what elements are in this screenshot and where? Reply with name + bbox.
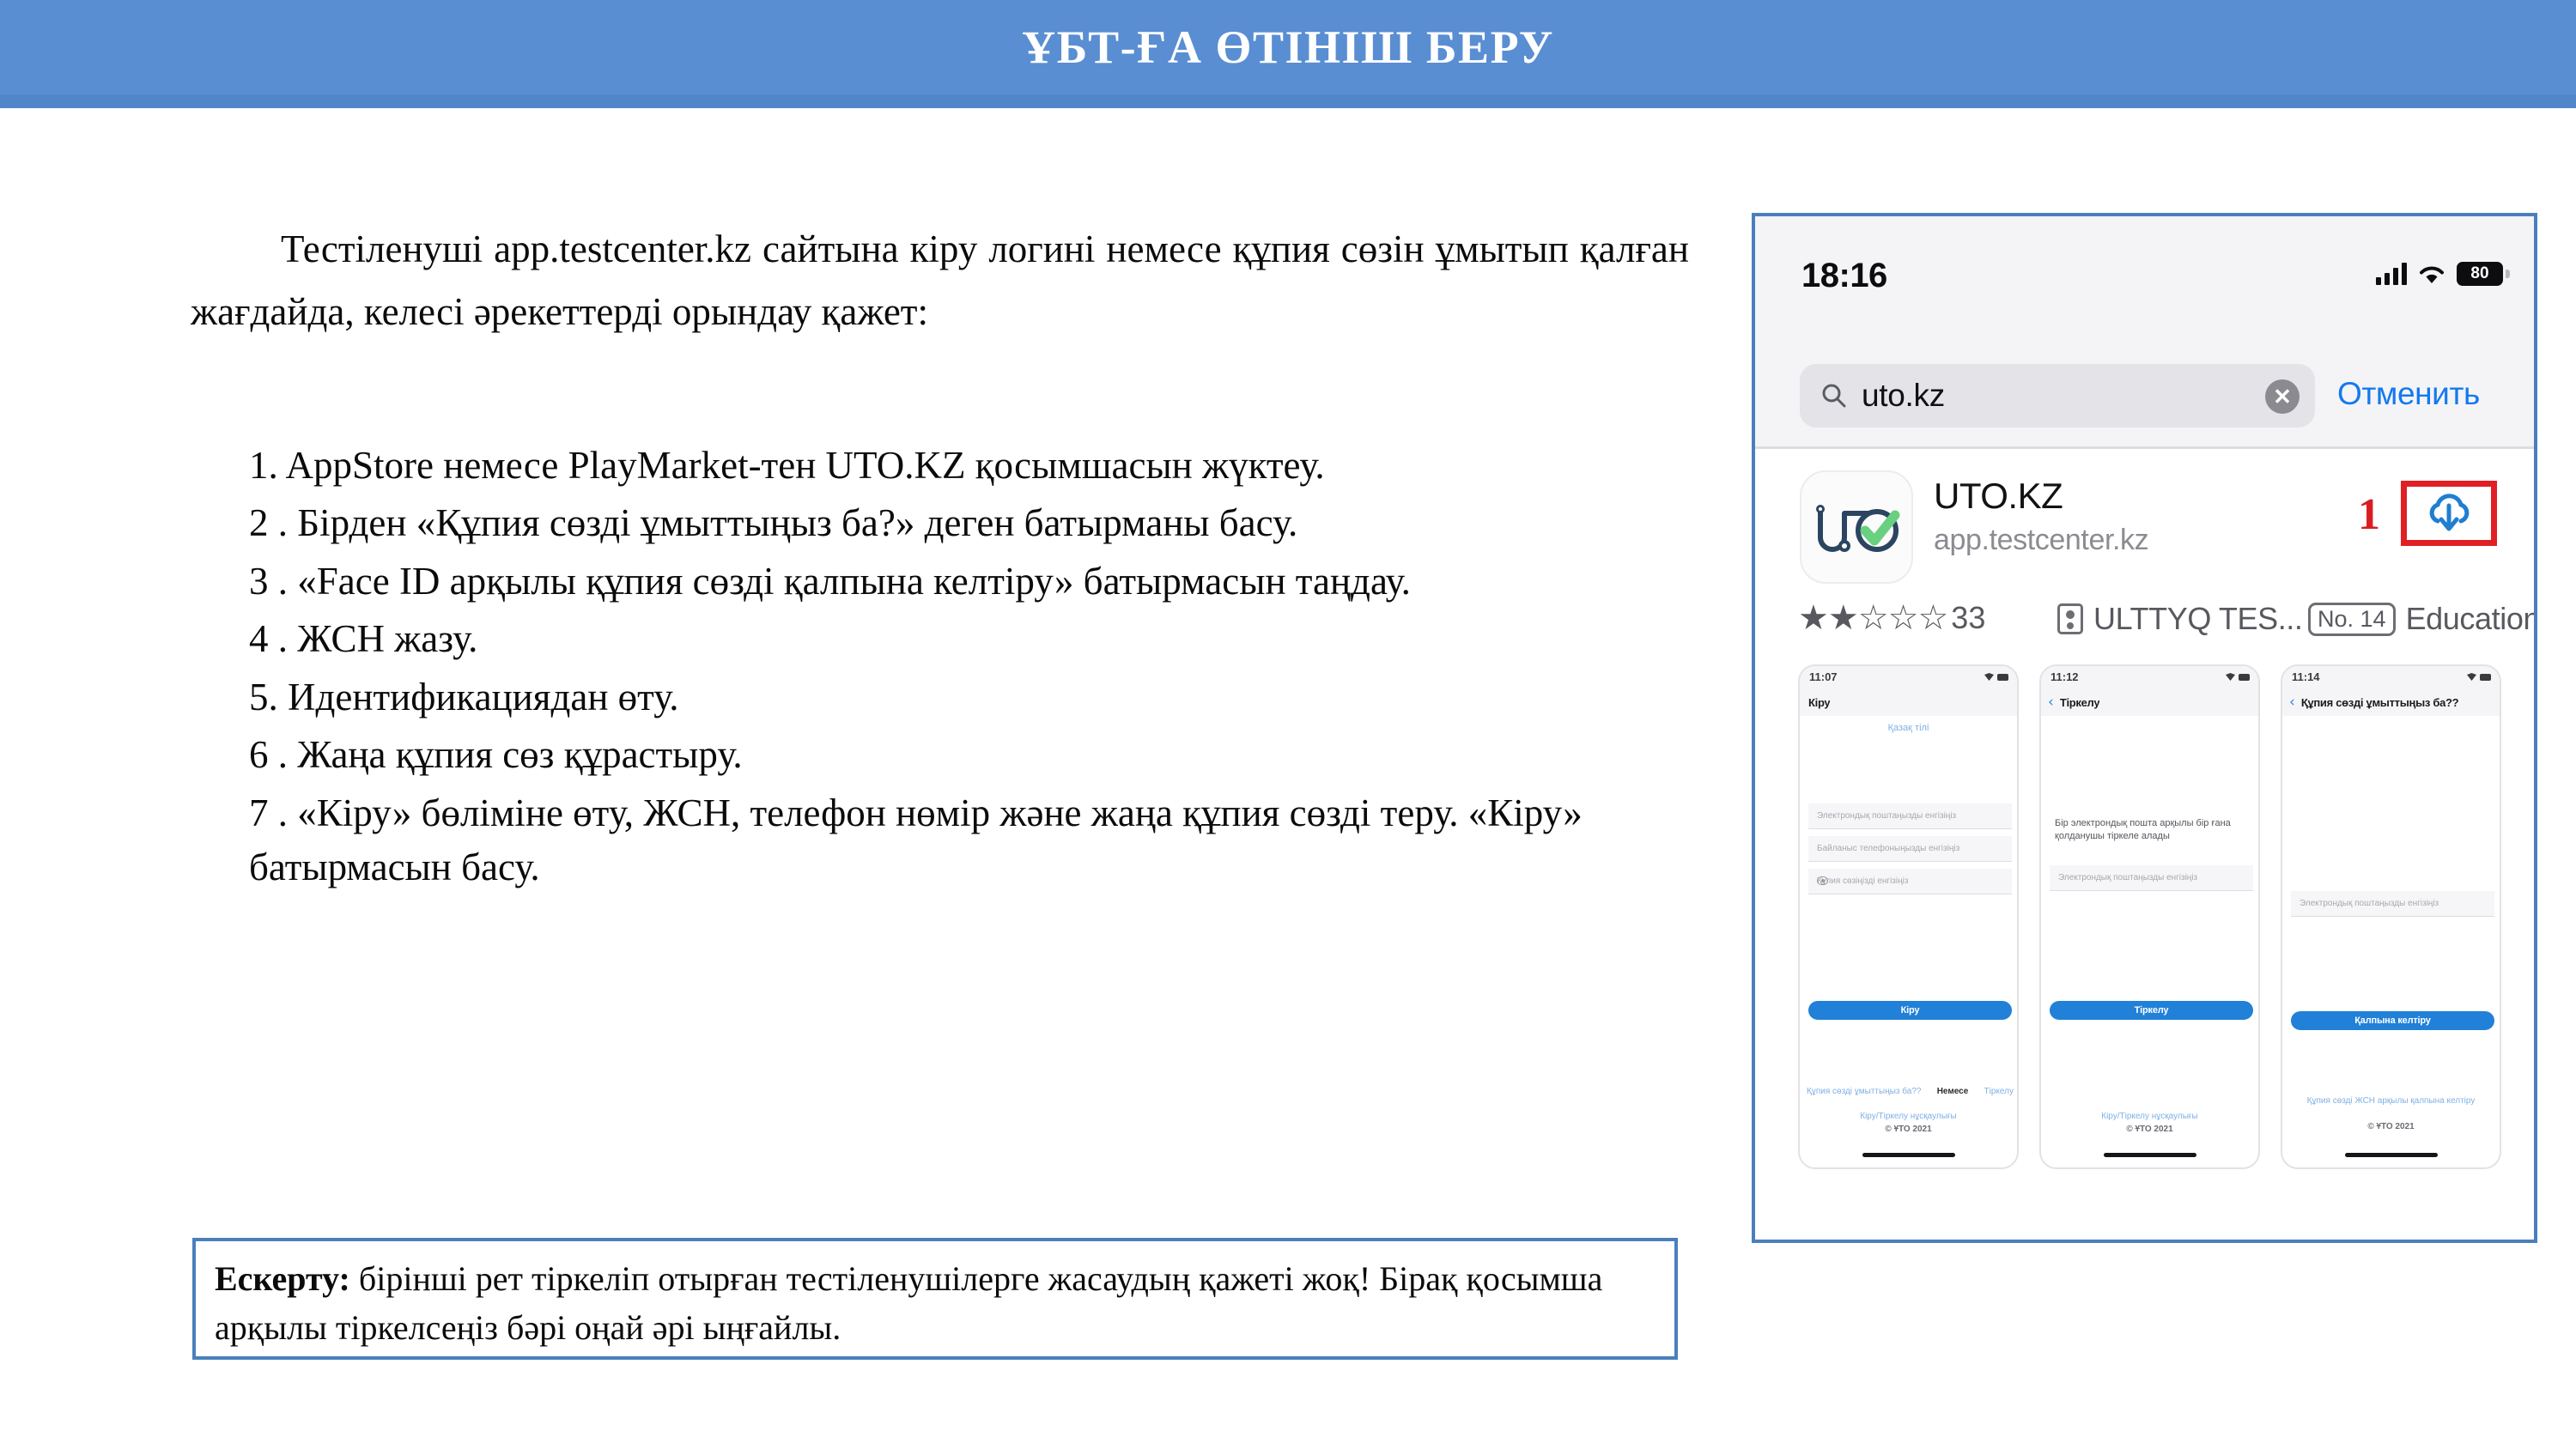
preview-title: Құпия сөзді ұмыттыңыз ба?? — [2301, 696, 2458, 709]
list-item: 5. Идентификациядан өту. — [249, 670, 1700, 724]
preview-time: 11:12 — [2050, 670, 2079, 683]
login-button[interactable]: Кіру — [1808, 1001, 2012, 1020]
copyright: © ҰТО 2021 — [1800, 1124, 2017, 1137]
star-filled-1: ★ — [1798, 599, 1828, 637]
star-filled-2: ★ — [1828, 599, 1858, 637]
home-indicator — [2104, 1153, 2196, 1157]
star-empty-3: ☆ — [1858, 599, 1888, 637]
preview-footer-center: © ҰТО 2021 — [2282, 1121, 2500, 1134]
battery-icon — [2239, 674, 2250, 681]
back-chevron-icon[interactable]: ‹ — [2048, 695, 2054, 710]
search-input-value: uto.kz — [1862, 378, 1945, 414]
email-field[interactable]: Электрондық поштаңызды енгізіңіз — [2291, 891, 2494, 917]
preview-title: Тіркелу — [2060, 696, 2099, 709]
preview-title: Кіру — [1808, 696, 1830, 709]
preview-footer-links: Құпия сөзді ұмыттыңыз ба?? Немесе Тіркел… — [1807, 1087, 2014, 1096]
password-field-placeholder: Құпия сөзіңізді енгізіңіз — [1817, 876, 1908, 886]
category-label: Education — [2406, 601, 2537, 637]
note-label: Ескерту: — [215, 1259, 350, 1298]
language-link[interactable]: Қазақ тілі — [1800, 723, 2017, 733]
phone-screenshot-card: 18:16 80 uto.kz ✕ Отменить — [1752, 213, 2537, 1243]
preview-nav-bar: Кіру — [1800, 688, 2017, 716]
preview-screenshot-1[interactable]: 11:07 Кіру Қазақ тілі Электрондық поштаң… — [1798, 664, 2019, 1169]
developer-badge-icon — [2057, 603, 2083, 634]
restore-button[interactable]: Қалпына келтіру — [2291, 1011, 2494, 1030]
guide-link[interactable]: Кіру/Тіркелу нұсқаулығы — [1800, 1111, 2017, 1124]
restore-by-iin-link[interactable]: Құпия сөзді ЖСН арқылы қалпына келтіру — [2282, 1095, 2500, 1108]
battery-icon: 80 — [2457, 262, 2503, 286]
app-subtitle: app.testcenter.kz — [1934, 524, 2148, 557]
app-meta-row: ★ ★ ☆ ☆ ☆ 33 ULTTYQ TES... No. 14 Educat… — [1755, 599, 2534, 652]
search-icon — [1820, 382, 1848, 409]
home-indicator — [2345, 1153, 2438, 1157]
email-field-placeholder: Электрондық поштаңызды енгізіңіз — [2058, 873, 2197, 882]
email-field-placeholder: Электрондық поштаңызды енгізіңіз — [2300, 899, 2439, 908]
email-field-placeholder: Электрондық поштаңызды енгізіңіз — [1817, 811, 1956, 821]
wifi-icon — [2467, 673, 2476, 681]
preview-status-icons — [2226, 673, 2250, 681]
star-empty-4: ☆ — [1888, 599, 1918, 637]
download-button[interactable] — [2401, 481, 2497, 546]
preview-screenshot-2[interactable]: 11:12 ‹ Тіркелу Бір электрондық пошта ар… — [2039, 664, 2260, 1169]
list-item: 3 . «Face ID арқылы құпия сөзді қалпына … — [249, 555, 1700, 609]
list-item: 4 . ЖСН жазу. — [249, 612, 1700, 666]
status-bar-time: 18:16 — [1801, 257, 1887, 295]
app-title: UTO.KZ — [1934, 476, 2063, 517]
preview-status-icons — [1984, 673, 2008, 681]
cancel-button[interactable]: Отменить — [2337, 376, 2480, 412]
note-line-1: бірінші рет тіркеліп отырған тестіленуші… — [350, 1259, 1370, 1298]
preview-nav-bar: ‹ Құпия сөзді ұмыттыңыз ба?? — [2282, 688, 2500, 716]
page-title: ҰБТ-ҒА ӨТІНІШ БЕРУ — [0, 0, 2576, 94]
or-label: Немесе — [1937, 1087, 1969, 1096]
phone-search-row: uto.kz ✕ Отменить — [1755, 345, 2534, 446]
preview-status-icons — [2467, 673, 2491, 681]
wifi-icon — [1984, 673, 1994, 681]
rank-badge: No. 14 — [2308, 603, 2396, 636]
preview-time: 11:07 — [1809, 670, 1838, 683]
wifi-icon — [2417, 263, 2446, 285]
annotation-marker-1: 1 — [2358, 489, 2380, 540]
header-banner-underline — [0, 94, 2576, 108]
phone-field[interactable]: Байланыс телефоныңызды енгізіңіз — [1808, 836, 2012, 862]
guide-link[interactable]: Кіру/Тіркелу нұсқаулығы — [2041, 1111, 2258, 1124]
cloud-download-icon — [2422, 488, 2476, 539]
preview-time: 11:14 — [2292, 670, 2320, 683]
back-chevron-icon[interactable]: ‹ — [2289, 695, 2295, 710]
phone-status-bar: 18:16 80 — [1755, 216, 2534, 362]
forgot-password-link[interactable]: Құпия сөзді ұмыттыңыз ба?? — [1807, 1087, 1921, 1096]
preview-footer-center: Кіру/Тіркелу нұсқаулығы © ҰТО 2021 — [2041, 1111, 2258, 1136]
list-item: 6 . Жаңа құпия сөз құрастыру. — [249, 728, 1700, 782]
developer-info: ULTTYQ TES... — [2057, 601, 2303, 637]
note-box: Ескерту: бірінші рет тіркеліп отырған те… — [192, 1238, 1678, 1360]
developer-name: ULTTYQ TES... — [2093, 601, 2303, 637]
search-divider — [1755, 446, 2534, 449]
cellular-bars-icon — [2376, 263, 2407, 285]
register-button[interactable]: Тіркелу — [2050, 1001, 2253, 1020]
uto-app-icon — [1800, 470, 1913, 584]
wifi-icon — [2226, 673, 2235, 681]
steps-list: 1. AppStore немесе PlayMarket-тен UTO.KZ… — [249, 439, 1700, 899]
email-field[interactable]: Электрондық поштаңызды енгізіңіз — [2050, 865, 2253, 891]
intro-paragraph: Тестіленуші app.testcenter.kz сайтына кі… — [191, 218, 1689, 343]
eye-icon[interactable] — [1817, 876, 1828, 885]
email-field[interactable]: Электрондық поштаңызды енгізіңіз — [1808, 803, 2012, 829]
register-link[interactable]: Тіркелу — [1984, 1087, 2014, 1096]
password-field[interactable]: Құпия сөзіңізді енгізіңіз — [1808, 869, 2012, 894]
phone-field-placeholder: Байланыс телефоныңызды енгізіңіз — [1817, 844, 1959, 853]
clear-icon[interactable]: ✕ — [2265, 379, 2300, 414]
register-description: Бір электрондық пошта арқылы бір ғана қо… — [2055, 817, 2248, 843]
note-text: Ескерту: бірінші рет тіркеліп отырған те… — [215, 1255, 1666, 1353]
app-result-row[interactable]: UTO.KZ app.testcenter.kz 1 — [1755, 465, 2534, 585]
preview-footer-center: Кіру/Тіркелу нұсқаулығы © ҰТО 2021 — [1800, 1111, 2017, 1136]
copyright: © ҰТО 2021 — [2282, 1121, 2500, 1134]
battery-icon — [1997, 674, 2008, 681]
battery-level: 80 — [2470, 264, 2488, 283]
star-empty-5: ☆ — [1917, 599, 1947, 637]
search-input[interactable]: uto.kz ✕ — [1800, 364, 2315, 427]
copyright: © ҰТО 2021 — [2041, 1124, 2258, 1137]
status-bar-indicators: 80 — [2376, 256, 2503, 292]
preview-screenshot-3[interactable]: 11:14 ‹ Құпия сөзді ұмыттыңыз ба?? Элект… — [2281, 664, 2501, 1169]
list-item: 2 . Бірден «Құпия сөзді ұмыттыңыз ба?» д… — [249, 496, 1700, 550]
home-indicator — [1862, 1153, 1955, 1157]
battery-icon — [2480, 674, 2491, 681]
preview-nav-bar: ‹ Тіркелу — [2041, 688, 2258, 716]
list-item: 7 . «Кіру» бөліміне өту, ЖСН, телефон нө… — [249, 786, 1700, 895]
rating-stars: ★ ★ ☆ ☆ ☆ 33 — [1798, 599, 1985, 637]
rank-info: No. 14 Education — [2308, 601, 2537, 637]
list-item: 1. AppStore немесе PlayMarket-тен UTO.KZ… — [249, 439, 1700, 493]
rating-count: 33 — [1951, 600, 1985, 636]
app-preview-screenshots: 11:07 Кіру Қазақ тілі Электрондық поштаң… — [1798, 664, 2502, 1169]
